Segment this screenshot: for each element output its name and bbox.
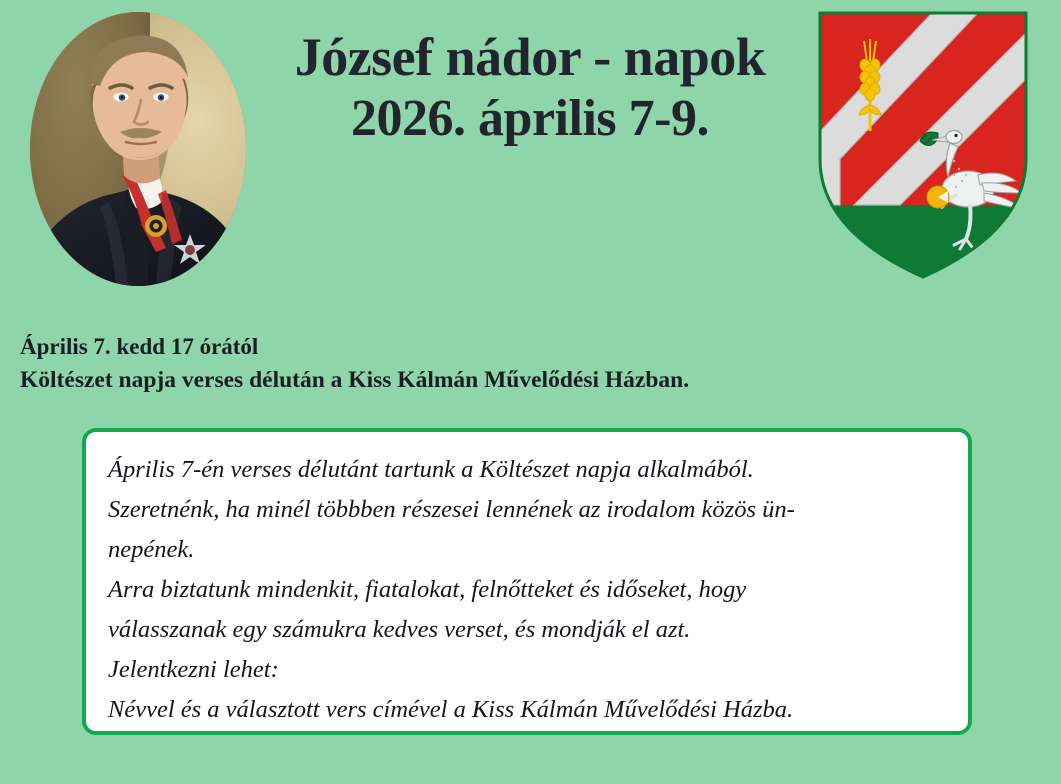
coat-of-arms-shield bbox=[814, 9, 1032, 281]
description-line: nepének. bbox=[108, 530, 946, 570]
program-header: Április 7. kedd 17 órától Költészet napj… bbox=[20, 330, 689, 397]
description-box: Április 7-én verses délutánt tartunk a K… bbox=[82, 428, 972, 735]
portrait-archduke-joseph bbox=[30, 12, 246, 286]
poster-title: József nádor - napok 2026. április 7-9. bbox=[250, 28, 810, 151]
coat-of-arms-image bbox=[814, 9, 1032, 281]
description-line: Arra biztatunk mindenkit, fiatalokat, fe… bbox=[108, 570, 946, 610]
portrait-image bbox=[30, 12, 246, 286]
title-line-2: 2026. április 7-9. bbox=[250, 86, 810, 151]
poster-root: József nádor - napok 2026. április 7-9. bbox=[0, 0, 1061, 784]
program-line-date: Április 7. kedd 17 órától bbox=[20, 330, 689, 363]
description-line: válasszanak egy számukra kedves verset, … bbox=[108, 610, 946, 650]
program-line-event: Költészet napja verses délután a Kiss Ká… bbox=[20, 363, 689, 397]
title-line-1: József nádor - napok bbox=[250, 28, 810, 86]
description-line: Névvel és a választott vers címével a Ki… bbox=[108, 690, 946, 730]
description-line: Április 7-én verses délutánt tartunk a K… bbox=[108, 450, 946, 490]
description-line: Szeretnénk, ha minél többben részesei le… bbox=[108, 490, 946, 530]
description-line: Jelentkezni lehet: bbox=[108, 650, 946, 690]
